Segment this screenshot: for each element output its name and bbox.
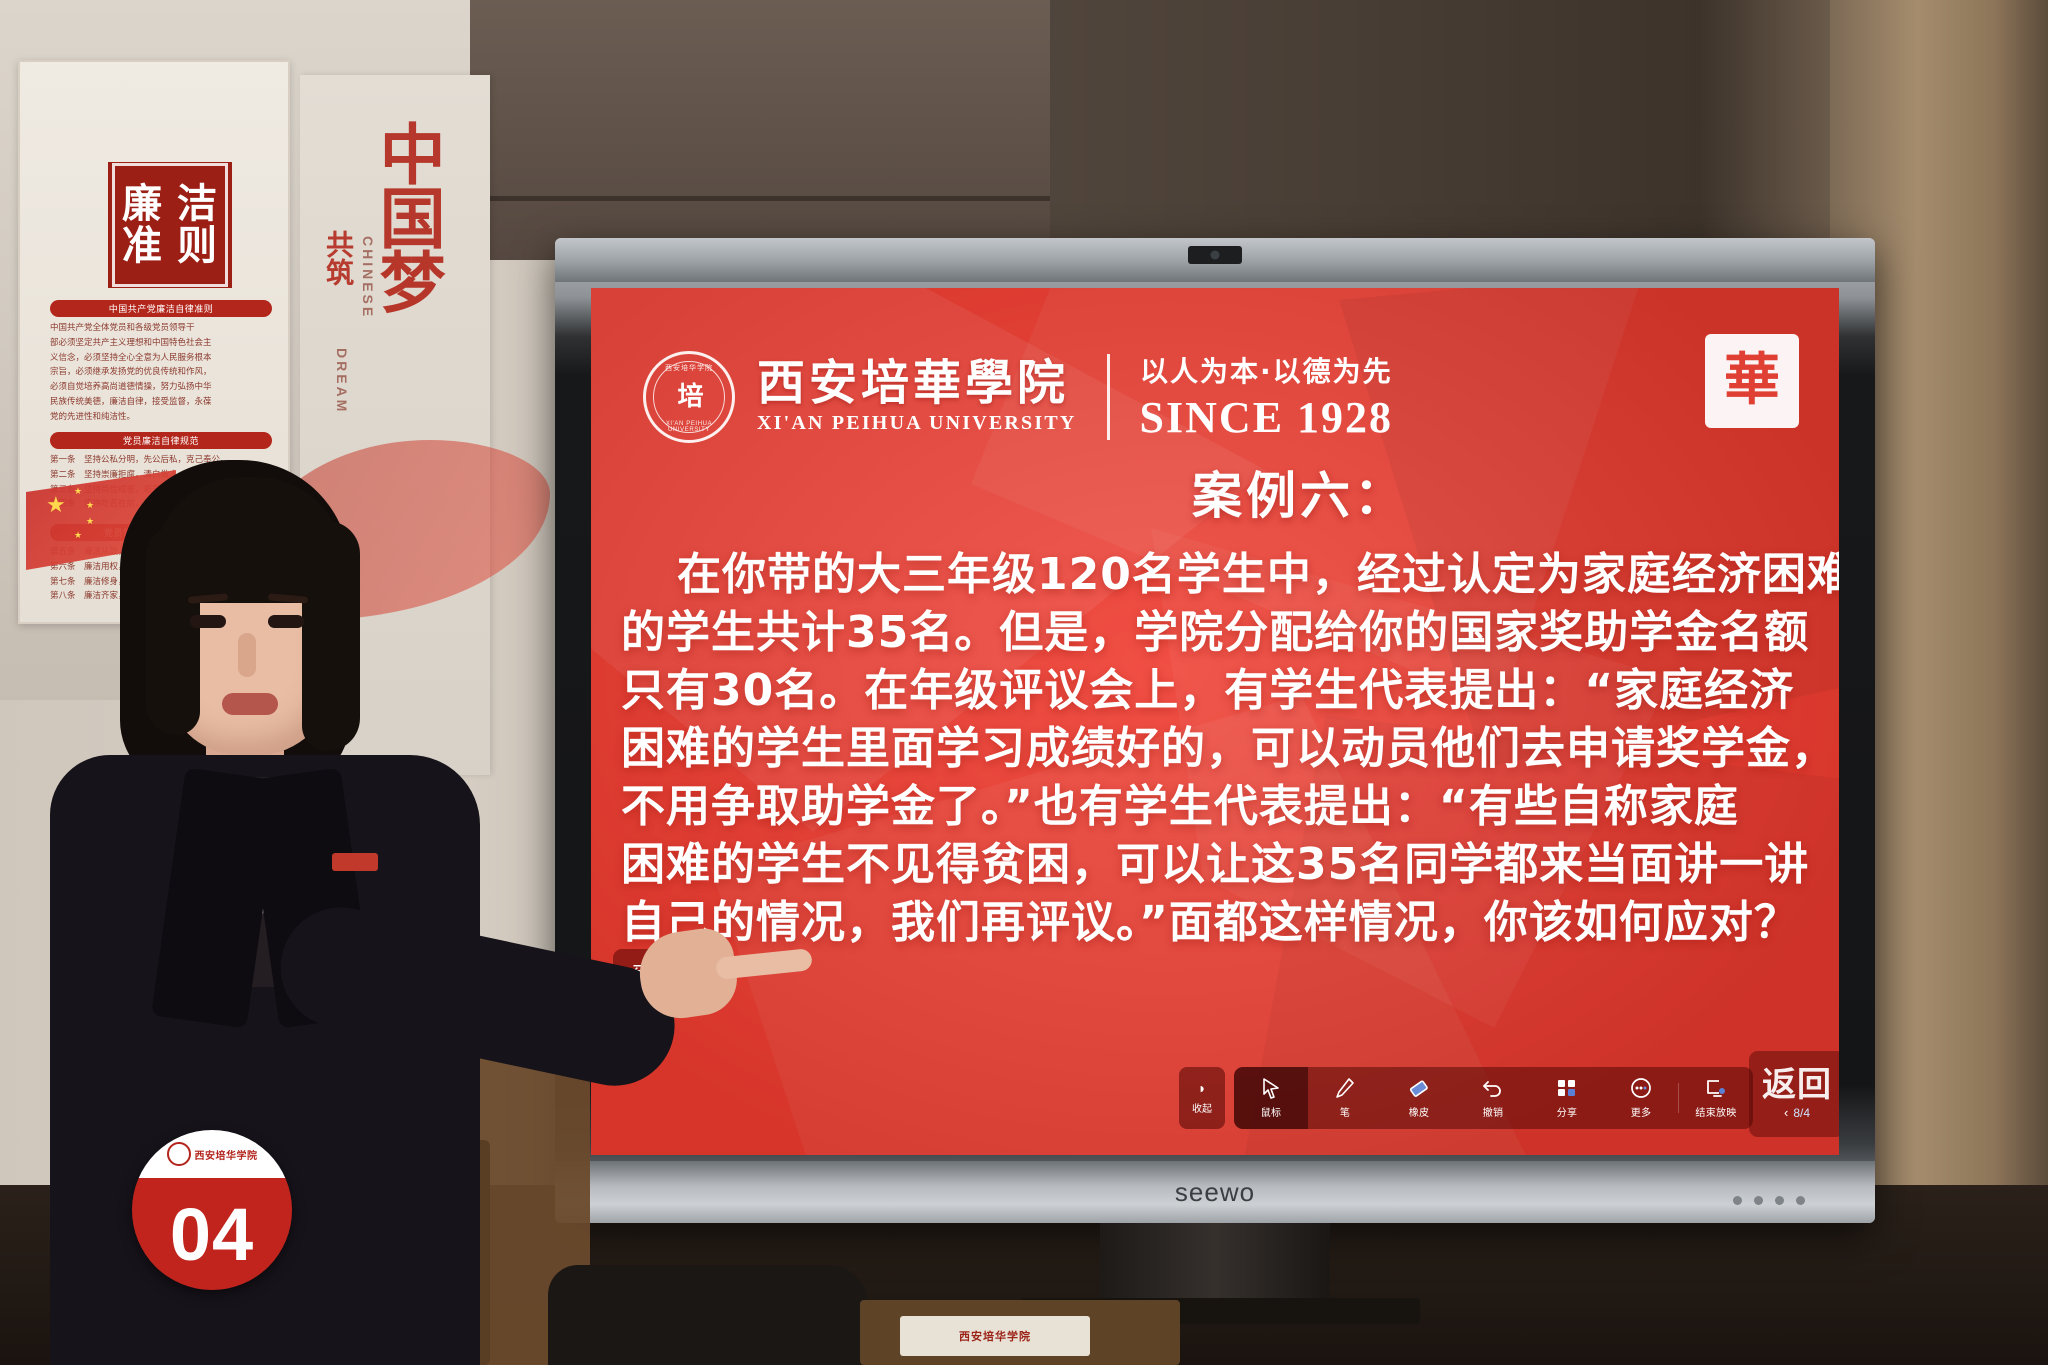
undo-icon [1482, 1077, 1504, 1099]
toolbar-item-undo[interactable]: 撤销 [1456, 1067, 1530, 1129]
poster-line: 部必须坚定共产主义理想和中国特色社会主 [50, 336, 272, 349]
motto-cn: 以人为本·以德为先 [1140, 350, 1393, 390]
more-icon [1630, 1077, 1652, 1099]
toolbar-item-pen[interactable]: 笔 [1308, 1067, 1382, 1129]
slide-body-line: 困难的学生不见得贫困，可以让这35名同学都来当面讲一讲 [621, 836, 1821, 894]
toolbar-label: 笔 [1340, 1104, 1350, 1119]
presentation-toolbar: ◗ 收起 鼠标 笔 [1179, 1067, 1753, 1129]
poster-section-2-bar: 党员廉洁自律规范 [50, 432, 272, 449]
corner-seal-glyph: 華 [1724, 353, 1780, 409]
university-name-block: 西安培華學院 XI'AN PEIHUA UNIVERSITY [757, 358, 1077, 434]
back-button-sub: ‹ 8/4 [1784, 1105, 1810, 1120]
display-screen[interactable]: 西安培华学院 培 XI'AN PEIHUA UNIVERSITY 西安培華學院 … [591, 288, 1839, 1155]
toolbar-label: 撤销 [1483, 1104, 1504, 1119]
motto-since: SINCE 1928 [1140, 392, 1394, 443]
screenshot-stage: 廉 洁 准 则 中国共产党廉洁自律准则 中国共产党全体党员和各级党员领导干 部必… [0, 0, 2048, 1365]
back-button-label: 返回 [1762, 1068, 1832, 1104]
eraser-icon [1408, 1077, 1430, 1099]
exit-icon [1705, 1077, 1727, 1099]
poster-char-2: 洁 [170, 183, 225, 225]
university-name-en: XI'AN PEIHUA UNIVERSITY [757, 412, 1077, 435]
toolbar-item-more[interactable]: 更多 [1604, 1067, 1678, 1129]
dream-en-top: CHINESE [360, 236, 376, 319]
toolbar-strip: 鼠标 笔 橡皮 [1234, 1067, 1753, 1129]
status-leds [1733, 1196, 1805, 1205]
slide-body-line: 的学生共计35名。但是，学院分配给你的国家奖助学金名额 [621, 604, 1821, 662]
poster-line: 党的先进性和纯洁性。 [50, 410, 272, 423]
collapse-button[interactable]: ◗ 收起 [1179, 1067, 1225, 1129]
display-bezel-bottom: seewo [555, 1161, 1875, 1223]
slide-body-line: 自己的情况，我们再评议。”面都这样情况，你该如何应对？ [621, 894, 1821, 952]
toolbar-item-share[interactable]: 分享 [1530, 1067, 1604, 1129]
poster-section-1: 中国共产党廉洁自律准则 中国共产党全体党员和各级党员领导干 部必须坚定共产主义理… [50, 300, 272, 424]
podium-plate-text: 西安培华学院 [959, 1328, 1031, 1344]
slide-body-line: 不用争取助学金了。”也有学生代表提出：“有些自称家庭 [621, 778, 1821, 836]
nose [238, 633, 256, 677]
toolbar-label: 橡皮 [1409, 1104, 1430, 1119]
seal-glyph: 培 [677, 384, 700, 410]
slide-header: 西安培华学院 培 XI'AN PEIHUA UNIVERSITY 西安培華學院 … [643, 350, 1393, 443]
mouth [222, 693, 278, 715]
display-bezel-top [555, 238, 1875, 282]
slide-body-line: 困难的学生里面学习成绩好的，可以动员他们去申请奖学金， [621, 720, 1821, 778]
eye-left [190, 615, 226, 628]
page-indicator: 8/4 [1793, 1106, 1810, 1120]
cursor-icon [1261, 1077, 1281, 1099]
slide-title-text: 案例六： [1192, 467, 1408, 525]
slide-body: 在你带的大三年级120名学生中，经过认定为家庭经济困难 的学生共计35名。但是，… [621, 546, 1821, 953]
seal-top-text: 西安培华学院 [646, 363, 732, 373]
poster-line: 民族传统美德，廉洁自律，接受监督，永葆 [50, 395, 272, 408]
toolbar-item-exit[interactable]: 结束放映 [1679, 1067, 1753, 1129]
university-motto-block: 以人为本·以德为先 SINCE 1928 [1140, 350, 1394, 443]
contestant-badge: 西安培华学院 04 [132, 1130, 292, 1290]
slide-body-line: 只有30名。在年级评议会上，有学生代表提出：“家庭经济 [621, 662, 1821, 720]
poster-line: 义信念，必须坚持全心全意为人民服务根本 [50, 351, 272, 364]
led-indicator [1733, 1196, 1742, 1205]
led-indicator [1775, 1196, 1784, 1205]
chinese-dream-banner: 中国梦 共筑 CHINESE DREAM [330, 120, 480, 420]
eye-right [268, 615, 304, 628]
hair-left [146, 525, 200, 735]
toolbar-label: 结束放映 [1695, 1104, 1736, 1119]
toolbar-label: 更多 [1631, 1104, 1652, 1119]
collapse-icon: ◗ [1198, 1081, 1206, 1095]
wall-upper-panel [470, 0, 1050, 260]
dream-en-bottom: DREAM [334, 348, 350, 414]
hair-right [302, 521, 360, 751]
poster-line: 中国共产党全体党员和各级党员领导干 [50, 321, 272, 334]
toolbar-item-cursor[interactable]: 鼠标 [1234, 1067, 1308, 1129]
slide-body-line: 在你带的大三年级120名学生中，经过认定为家庭经济困难 [621, 546, 1821, 604]
toolbar-item-eraser[interactable]: 橡皮 [1382, 1067, 1456, 1129]
badge-number: 04 [170, 1178, 254, 1290]
chevron-left-icon: ‹ [1784, 1105, 1788, 1120]
lapel-pin [332, 853, 378, 871]
camera-icon [1188, 246, 1242, 264]
share-icon [1556, 1077, 1578, 1099]
podium-plate: 西安培华学院 [900, 1316, 1090, 1356]
university-seal-icon: 西安培华学院 培 XI'AN PEIHUA UNIVERSITY [643, 351, 735, 443]
poster-title-chars: 廉 洁 准 则 [112, 163, 228, 287]
pen-icon [1335, 1077, 1355, 1099]
poster-line: 宗旨，必须继承发扬党的优良传统和作风， [50, 365, 272, 378]
poster-title-block: 廉 洁 准 则 [108, 162, 232, 288]
university-name-cn: 西安培華學院 [757, 358, 1077, 408]
badge-org-text: 西安培华学院 [195, 1147, 258, 1162]
poster-char-1: 廉 [115, 183, 170, 225]
toolbar-label: 鼠标 [1261, 1104, 1282, 1119]
slide-title: 案例六： [591, 456, 1839, 528]
university-seal-icon [167, 1142, 191, 1166]
led-indicator [1796, 1196, 1805, 1205]
dream-main-text: 中国梦 [374, 120, 439, 312]
collapse-label: 收起 [1192, 1100, 1212, 1115]
display-stand-column [1100, 1223, 1330, 1303]
seal-bottom-text: XI'AN PEIHUA UNIVERSITY [646, 421, 732, 433]
ceiling-line [470, 196, 1050, 201]
poster-section-1-body: 中国共产党全体党员和各级党员领导干 部必须坚定共产主义理想和中国特色社会主 义信… [50, 321, 272, 422]
poster-char-4: 则 [170, 225, 225, 267]
back-to-question-button[interactable]: 返回 ‹ 8/4 [1749, 1051, 1839, 1137]
header-divider [1107, 354, 1110, 440]
poster-char-3: 准 [115, 225, 170, 267]
led-indicator [1754, 1196, 1763, 1205]
toolbar-label: 分享 [1557, 1104, 1578, 1119]
brand-logo: seewo [1175, 1177, 1255, 1208]
dream-sub-text: 共筑 [324, 230, 352, 286]
corner-seal-icon: 華 [1705, 334, 1799, 428]
interactive-display-panel: 西安培华学院 培 XI'AN PEIHUA UNIVERSITY 西安培華學院 … [555, 238, 1875, 1223]
poster-line: 必须自觉培养高尚道德情操，努力弘扬中华 [50, 380, 272, 393]
bag [548, 1265, 868, 1365]
poster-section-1-bar: 中国共产党廉洁自律准则 [50, 300, 272, 317]
